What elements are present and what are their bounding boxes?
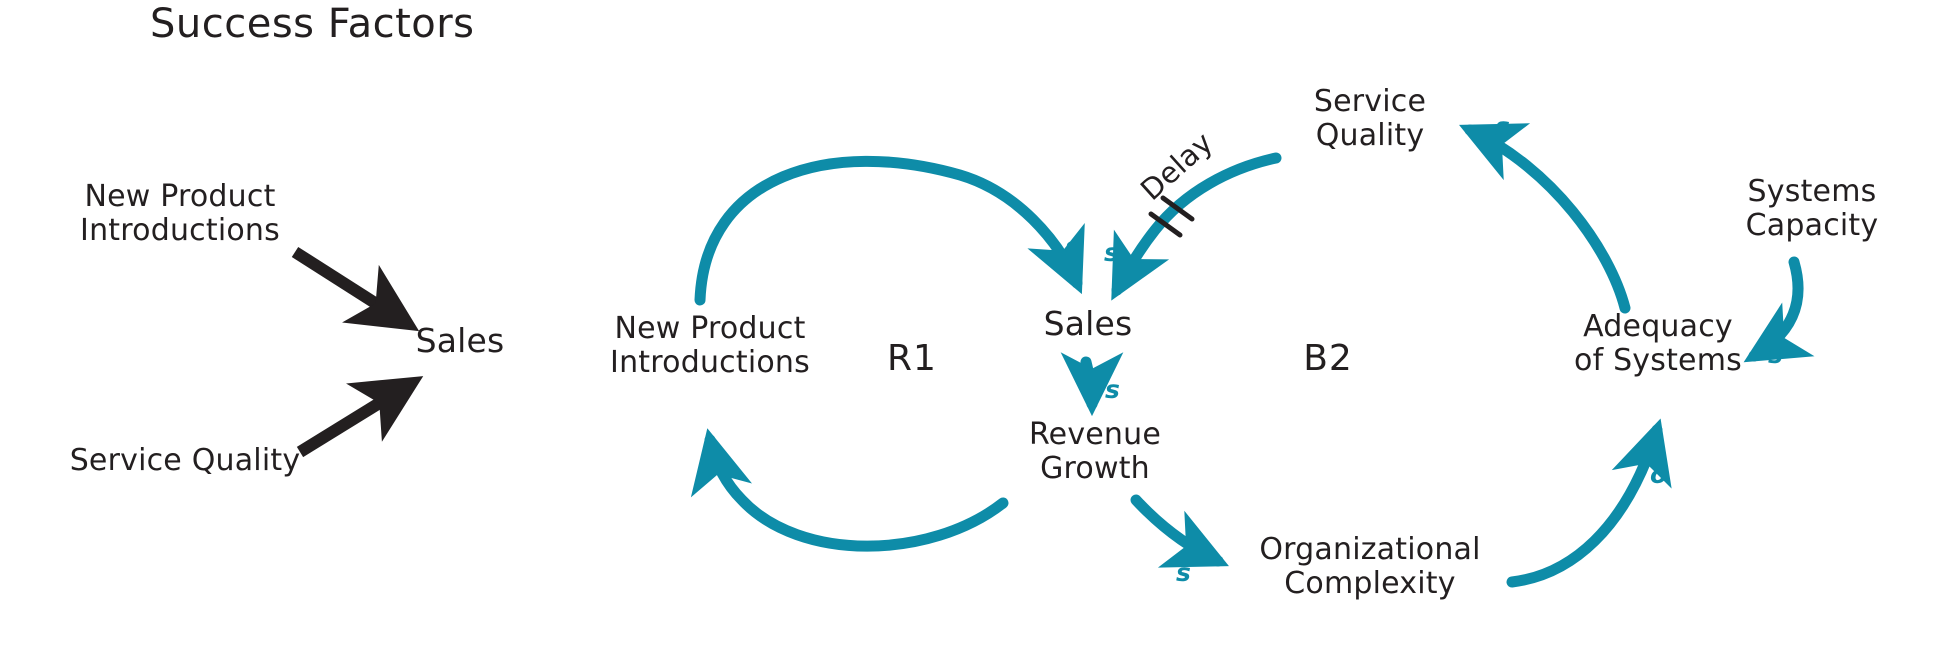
node-revenue: Revenue Growth (1005, 418, 1185, 486)
polarity-npi-to-sales: s (1065, 232, 1080, 261)
polarity-adequacy-to-service: s (1495, 112, 1510, 141)
polarity-orgcx-to-adequacy: o (1650, 460, 1667, 489)
node-orgcx: Organizational Complexity (1225, 533, 1515, 601)
polarity-service-to-sales: s (1104, 238, 1119, 267)
link-orgcx-to-adequacy (1512, 430, 1657, 582)
node-syscap: Systems Capacity (1712, 175, 1912, 243)
polarity-revenue-to-npi: s (697, 455, 712, 484)
page-title: Success Factors (150, 2, 510, 48)
polarity-sales-to-revenue: s (1105, 375, 1120, 404)
node-sales-left: Sales (400, 322, 520, 360)
node-sq-left: Service Quality (55, 444, 315, 478)
node-npi-left: New Product Introductions (60, 180, 300, 248)
link-npi-to-sales (700, 161, 1077, 300)
polarity-syscap-to-adequacy: s (1768, 340, 1783, 369)
link-revenue-to-orgcx (1136, 500, 1218, 561)
link-revenue-to-npi (710, 440, 1003, 546)
node-adequacy: Adequacy of Systems (1540, 310, 1776, 378)
node-sales: Sales (1030, 305, 1146, 343)
loop-label-b2: B2 (1288, 338, 1368, 379)
link-sales-to-revenue (1086, 362, 1092, 404)
node-npi: New Product Introductions (600, 312, 820, 380)
node-service: Service Quality (1280, 85, 1460, 153)
loop-label-r1: R1 (872, 338, 952, 379)
delay-label: Delay (1125, 117, 1229, 215)
diagram-canvas: Success Factors New Product Introduction… (0, 0, 1935, 661)
link-npi-left-to-sales-left (295, 252, 408, 324)
polarity-revenue-to-orgcx: s (1176, 558, 1191, 587)
link-sq-left-to-sales-left (300, 383, 412, 452)
link-adequacy-to-service (1470, 130, 1625, 308)
